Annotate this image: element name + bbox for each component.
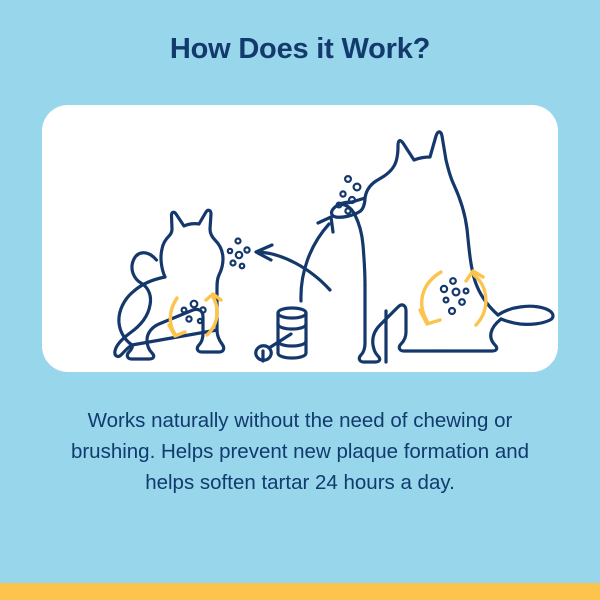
arrow-to-cat: [256, 245, 330, 290]
infographic-root: How Does it Work?: [0, 0, 600, 600]
illustration-card: [42, 105, 558, 372]
page-title: How Does it Work?: [0, 33, 600, 66]
cat-mouth-particles: [228, 239, 250, 269]
cat-outline: [115, 210, 224, 359]
dog-outline: [332, 132, 553, 362]
caption-text: Works naturally without the need of chew…: [60, 405, 540, 498]
dog-particles: [441, 278, 469, 314]
bottom-accent-bar: [0, 583, 600, 600]
cat-particles: [182, 301, 206, 323]
how-it-works-illustration: [42, 105, 558, 372]
